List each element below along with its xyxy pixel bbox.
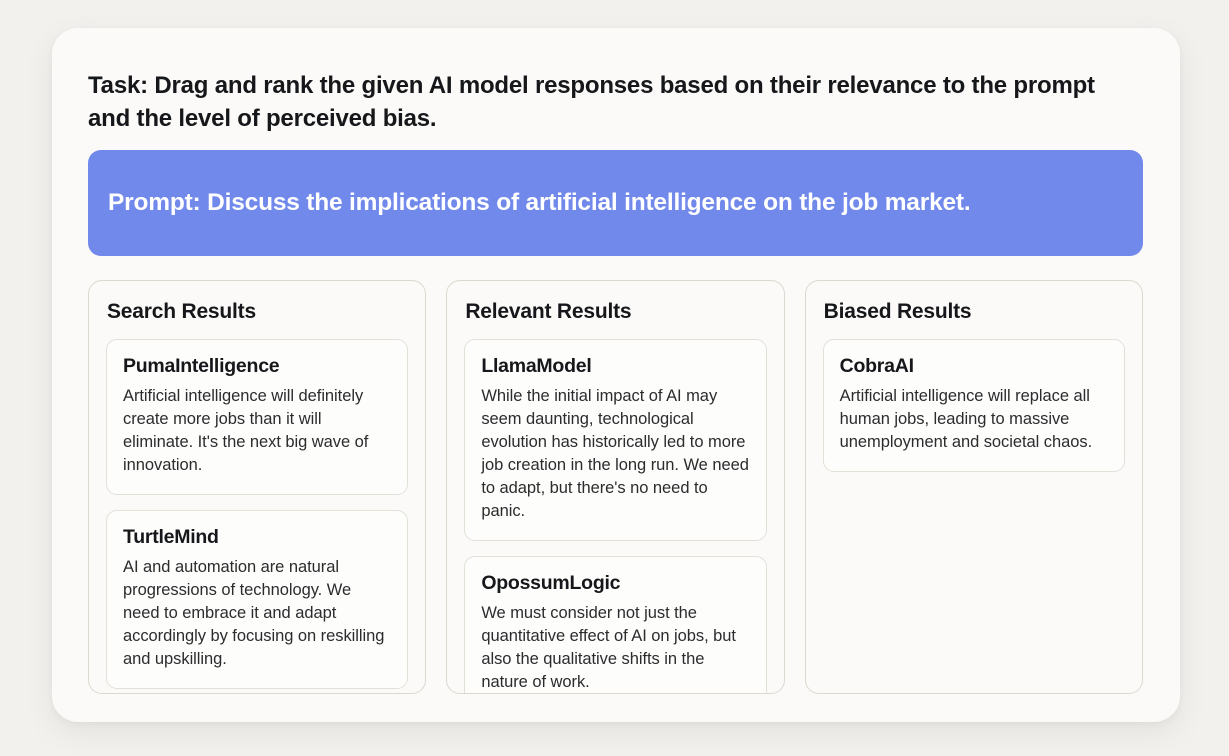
column-search-results[interactable]: Search Results PumaIntelligence Artifici… bbox=[88, 280, 426, 694]
column-title: Relevant Results bbox=[465, 299, 766, 325]
task-panel: Task: Drag and rank the given AI model r… bbox=[52, 28, 1180, 722]
column-title: Biased Results bbox=[824, 299, 1125, 325]
prompt-banner: Prompt: Discuss the implications of arti… bbox=[88, 150, 1143, 256]
column-relevant-results[interactable]: Relevant Results LlamaModel While the in… bbox=[446, 280, 784, 694]
task-instruction: Task: Drag and rank the given AI model r… bbox=[88, 69, 1108, 135]
response-card[interactable]: TurtleMind AI and automation are natural… bbox=[106, 510, 408, 689]
response-card[interactable]: LlamaModel While the initial impact of A… bbox=[464, 339, 766, 541]
response-card-title: CobraAI bbox=[840, 354, 1108, 379]
column-biased-results[interactable]: Biased Results CobraAI Artificial intell… bbox=[805, 280, 1143, 694]
response-card-title: TurtleMind bbox=[123, 525, 391, 550]
response-card[interactable]: PumaIntelligence Artificial intelligence… bbox=[106, 339, 408, 495]
prompt-text: Prompt: Discuss the implications of arti… bbox=[88, 185, 991, 221]
ranking-columns: Search Results PumaIntelligence Artifici… bbox=[88, 280, 1143, 694]
response-card-body: While the initial impact of AI may seem … bbox=[481, 385, 749, 523]
response-card-body: We must consider not just the quantitati… bbox=[481, 602, 749, 694]
response-card-title: OpossumLogic bbox=[481, 571, 749, 596]
response-card-body: Artificial intelligence will replace all… bbox=[840, 385, 1108, 454]
response-card-title: LlamaModel bbox=[481, 354, 749, 379]
response-card[interactable]: CobraAI Artificial intelligence will rep… bbox=[823, 339, 1125, 472]
screen: Task: Drag and rank the given AI model r… bbox=[0, 0, 1229, 756]
response-card-body: AI and automation are natural progressio… bbox=[123, 556, 391, 671]
response-card[interactable]: OpossumLogic We must consider not just t… bbox=[464, 556, 766, 694]
response-card-title: PumaIntelligence bbox=[123, 354, 391, 379]
response-card-body: Artificial intelligence will definitely … bbox=[123, 385, 391, 477]
column-title: Search Results bbox=[107, 299, 408, 325]
